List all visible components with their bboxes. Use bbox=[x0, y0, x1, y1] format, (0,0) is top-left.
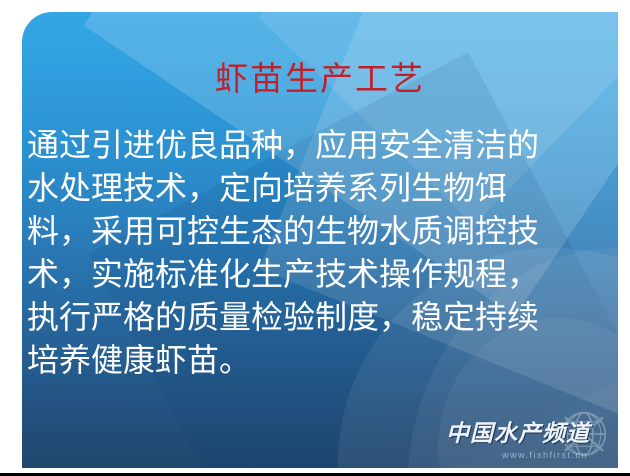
watermark-brand-text: 中国水产频道 bbox=[446, 414, 590, 448]
body-line: 术，实施标准化生产技术操作规程， bbox=[27, 253, 613, 296]
body-line: 培养健康虾苗。 bbox=[27, 339, 613, 382]
body-line: 执行严格的质量检验制度，稳定持续 bbox=[27, 296, 613, 339]
watermark: 中国水产频道 www.fishfirst.cn bbox=[402, 406, 612, 464]
slide-title: 虾苗生产工艺 bbox=[22, 64, 618, 97]
slide-body-text: 通过引进优良品种，应用安全清洁的 水处理技术，定向培养系列生物饵 料，采用可控生… bbox=[27, 124, 613, 382]
watermark-url-text: www.fishfirst.cn bbox=[502, 450, 588, 460]
body-line: 水处理技术，定向培养系列生物饵 bbox=[27, 167, 613, 210]
body-line: 通过引进优良品种，应用安全清洁的 bbox=[27, 124, 613, 167]
body-line: 料，采用可控生态的生物水质调控技 bbox=[27, 210, 613, 253]
slide-root: 虾苗生产工艺 通过引进优良品种，应用安全清洁的 水处理技术，定向培养系列生物饵 … bbox=[0, 0, 630, 476]
slide-content-panel: 虾苗生产工艺 通过引进优良品种，应用安全清洁的 水处理技术，定向培养系列生物饵 … bbox=[22, 12, 618, 468]
